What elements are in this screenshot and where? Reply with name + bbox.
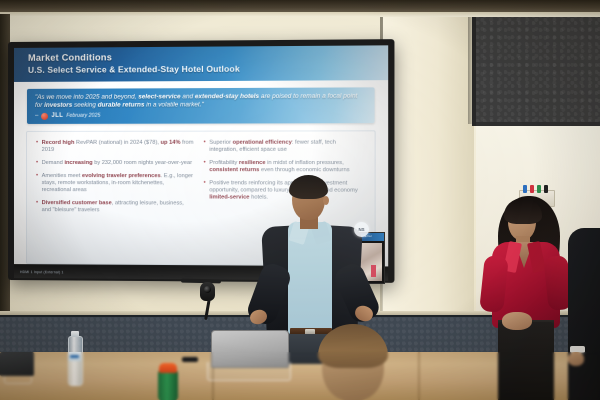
camera-lens-icon [204,286,211,293]
bullet-marker-icon: • [36,173,38,180]
quote-bold-1: select-service [138,93,180,100]
marker-green [537,185,541,193]
quote-part-1: "As we move into 2025 and beyond, [35,93,138,100]
bullet-text-strong-2: limited-service [209,195,249,201]
colleague-hands [502,312,532,330]
bullet-text-strong: increasing [64,160,92,166]
quote-bold-3: investors [44,102,72,109]
quote-box: "As we move into 2025 and beyond, select… [27,87,375,124]
attendee-hair [318,324,388,368]
ceiling-trim [0,12,600,17]
marker-red [530,185,534,193]
edge-person [568,228,600,400]
marker-black [544,185,548,193]
bullet-text-strong: resilience [239,160,266,166]
marker-blue [523,185,527,193]
table-seam [418,352,420,400]
slide-header: Market Conditions U.S. Select Service & … [14,45,388,82]
colleague-skirt [498,322,554,400]
presenter-ear [323,196,329,205]
quote-bold-4: durable returns [98,102,145,109]
water-bottle-label-band [70,355,79,358]
jll-logo-icon [41,113,48,120]
bullet-text: Demand increasing by 232,000 room nights… [42,160,192,167]
bullet-text: Profitability resilience in midst of inf… [209,160,365,175]
screenshot-root: Exterior NS Market Conditions U.S. Selec… [0,0,600,400]
badge-marker: NS [354,222,369,237]
quote-bold-2: extended-stay hotels [195,93,259,100]
bullet-item: •Record high RevPAR (national) in 2024 (… [36,140,194,155]
bullet-text-post-2: even through economic downturns [259,167,349,173]
bullet-marker-icon: • [204,160,206,167]
quote-date: February 2025 [66,113,100,119]
presenter-hair [289,175,328,199]
display-osd-text: HDMI 1 Input (External) 1 [14,270,64,274]
bullet-text-strong: Diversified customer base [42,200,112,206]
attribution-dash: – [35,113,38,119]
bullet-marker-icon: • [204,180,206,187]
bullet-column-left: •Record high RevPAR (national) in 2024 (… [36,140,194,258]
colleague-person [476,194,580,400]
quote-attribution: – JLL February 2025 [35,112,366,120]
bullet-text-pre: Demand [42,160,65,166]
bullet-text-post: RevPAR (national) in 2024 ($78), [74,140,160,146]
quote-section: "As we move into 2025 and beyond, select… [14,80,388,124]
quote-part-4: seeking [72,102,97,109]
second-laptop[interactable] [0,352,34,376]
bullet-text-strong: evolving traveler preferences [82,173,161,179]
laptop[interactable]: ⌘ [211,330,289,368]
green-bottle[interactable] [158,370,178,400]
bullet-text-pre: Superior [209,140,232,146]
bullet-item: •Demand increasing by 232,000 room night… [36,160,194,167]
bullet-marker-icon: • [36,160,38,167]
green-bottle-cap [159,363,177,373]
bullet-text-pre: Profitability [209,160,239,166]
bullet-text: Diversified customer base, attracting le… [42,200,195,215]
phone-on-table[interactable] [182,357,198,362]
bullet-marker-icon: • [36,140,38,147]
water-bottle[interactable] [68,336,83,386]
bullet-text-strong-2: consistent returns [209,167,259,173]
bullet-text-pre: Amenities meet [42,173,82,179]
slide-subtitle: U.S. Select Service & Extended-Stay Hote… [28,62,388,76]
bullet-marker-icon: • [36,200,38,207]
bullet-text-post: by 232,000 room nights year-over-year [93,160,192,166]
bullet-text-strong: operational efficiency [233,140,292,146]
bullet-text-post: in midst of inflation pressures, [266,160,344,166]
quote-part-5: in a volatile market." [144,101,203,108]
bullet-item: •Amenities meet evolving traveler prefer… [36,173,194,195]
quote-text: "As we move into 2025 and beyond, select… [35,93,366,111]
bullet-item: •Diversified customer base, attracting l… [36,200,194,215]
bullet-text-strong-2: up 14% [161,140,181,146]
bullet-text-strong: Record high [42,140,75,146]
quote-part-2: and [181,93,195,100]
bullet-marker-icon: • [204,140,206,147]
wall-column [382,14,474,314]
bullet-text: Superior operational efficiency: fewer s… [209,139,365,154]
quote-source: JLL [51,113,63,119]
bullet-item: •Profitability resilience in midst of in… [204,160,366,175]
bullet-text: Record high RevPAR (national) in 2024 ($… [42,140,195,155]
edge-person-hand [568,352,584,366]
bullet-item: •Superior operational efficiency: fewer … [204,139,366,154]
seated-attendee [300,330,410,400]
water-bottle-cap [71,331,79,337]
camera-mount-arm [181,279,221,284]
bullet-text: Amenities meet evolving traveler prefere… [42,173,195,195]
acoustic-panel [472,14,600,126]
